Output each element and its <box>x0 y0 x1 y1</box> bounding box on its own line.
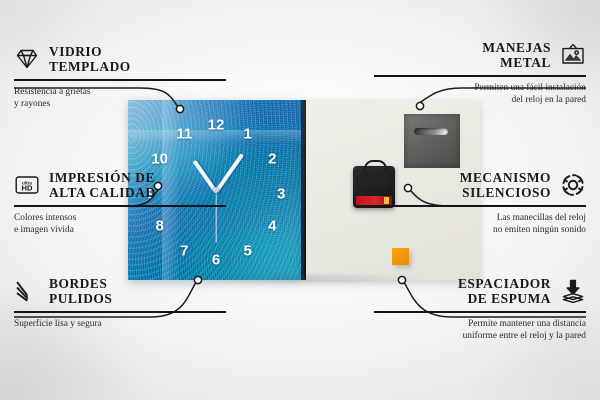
feature-description: Permiten una fácil instalación del reloj… <box>374 82 586 106</box>
divider <box>14 205 226 207</box>
svg-text:HD: HD <box>22 184 33 193</box>
panel-edge-left <box>304 100 306 280</box>
metal-hanger-plate <box>404 114 460 168</box>
feature-title: MECANISMO SILENCIOSO <box>460 170 551 200</box>
ultra-hd-icon: ultra HD <box>14 172 40 198</box>
feature-impresion-alta-calidad: ultra HD IMPRESIÓN DE ALTA CALIDAD Color… <box>14 170 226 236</box>
feature-description: Colores intensos e imagen vívida <box>14 212 226 236</box>
feature-description: Resistencia a grietas y rayones <box>14 86 226 110</box>
divider <box>14 311 226 313</box>
feature-description: Las manecillas del reloj no emiten ningú… <box>374 212 586 236</box>
hanger-slot <box>414 128 448 135</box>
diamond-icon <box>14 46 40 72</box>
infographic-canvas: 12 1 2 3 4 5 6 7 8 9 10 11 <box>0 0 600 400</box>
divider <box>374 205 586 207</box>
orange-foam-spacer <box>392 248 409 265</box>
feature-title: ESPACIADOR DE ESPUMA <box>458 276 551 306</box>
feature-espaciador-espuma: ESPACIADOR DE ESPUMA Permite mantener un… <box>374 276 586 342</box>
picture-frame-icon <box>560 42 586 68</box>
divider <box>374 311 586 313</box>
feature-vidrio-templado: VIDRIO TEMPLADO Resistencia a grietas y … <box>14 44 226 110</box>
gear-icon <box>560 172 586 198</box>
feature-mecanismo-silencioso: MECANISMO SILENCIOSO Las manecillas del … <box>374 170 586 236</box>
feature-description: Permite mantener una distancia uniforme … <box>374 318 586 342</box>
feature-description: Superficie lisa y segura <box>14 318 226 330</box>
divider <box>374 75 586 77</box>
arrow-down-foam-icon <box>560 278 586 304</box>
diagonal-stripes-icon <box>14 278 40 304</box>
feature-bordes-pulidos: BORDES PULIDOS Superficie lisa y segura <box>14 276 226 330</box>
feature-manejas-metal: MANEJAS METAL Permiten una fácil instala… <box>374 40 586 106</box>
feature-title: IMPRESIÓN DE ALTA CALIDAD <box>49 170 156 200</box>
feature-title: VIDRIO TEMPLADO <box>49 44 131 74</box>
divider <box>14 79 226 81</box>
feature-title: BORDES PULIDOS <box>49 276 112 306</box>
feature-title: MANEJAS METAL <box>482 40 551 70</box>
